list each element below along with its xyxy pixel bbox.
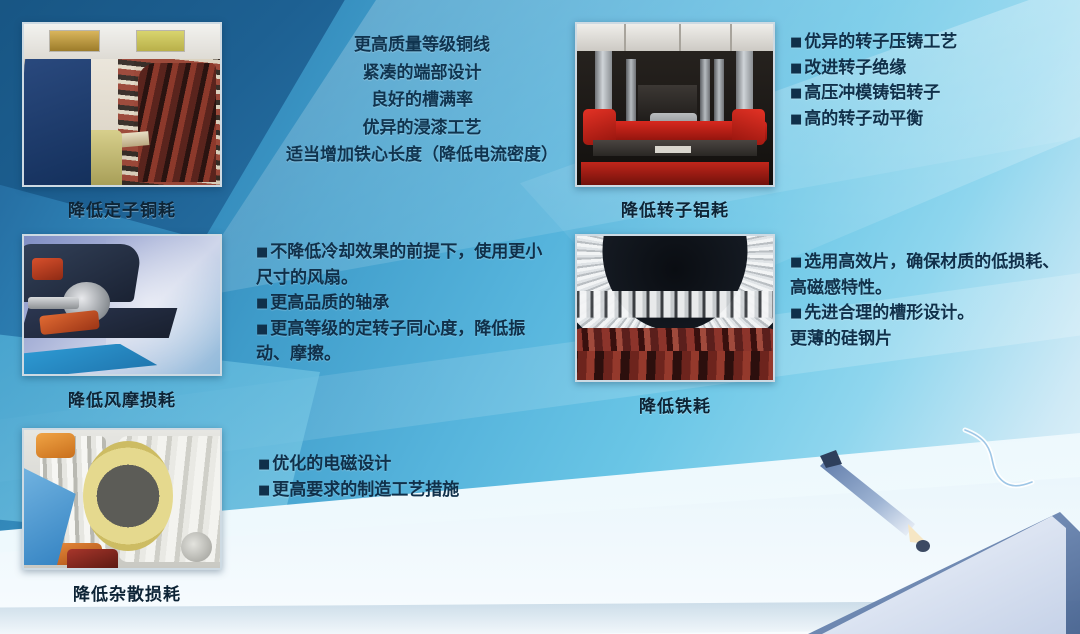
photo-layer-coils-front — [138, 63, 216, 182]
cooling-fan-assembly-photo — [22, 234, 222, 376]
photo-layer-red-base — [581, 162, 769, 185]
bullet-glyph: ■ — [256, 322, 268, 337]
bullet-glyph: ■ — [256, 296, 268, 311]
bullet-text: 不降低冷却效果的前提下，使用更小尺寸的风扇。 — [256, 242, 542, 288]
bullet-text: 优异的转子压铸工艺 — [804, 32, 957, 52]
bullet-item: ■先进合理的槽形设计。 — [790, 301, 1072, 327]
bullet-glyph: ■ — [258, 457, 270, 472]
photo-layer-red-part — [32, 258, 63, 280]
photo-ceiling-seam — [679, 24, 681, 51]
stator-copper-winding-photo — [22, 22, 222, 187]
bullet-item: ■更高等级的定转子同心度，降低振动、摩擦。 — [256, 317, 548, 368]
photo-ceiling-seam — [624, 24, 626, 51]
bullet-text: 优化的电磁设计 — [272, 454, 391, 474]
bullet-text: 高压冲模铸铝转子 — [804, 83, 940, 103]
bullet-text: 更高等级的定转子同心度，降低振动、摩擦。 — [256, 319, 525, 365]
caption-iron-loss: 降低铁耗 — [575, 392, 775, 417]
bullet-item: ■高压冲模铸铝转子 — [790, 81, 1068, 107]
bullet-item-plain: 更薄的硅钢片 — [790, 327, 1072, 353]
bullet-item: ■更高要求的制造工艺措施 — [258, 478, 558, 504]
text-iron-loss: ■选用高效片，确保材质的低损耗、高磁感特性。 ■先进合理的槽形设计。 更薄的硅钢… — [790, 250, 1072, 352]
photo-layer-rod-b — [700, 59, 710, 123]
text-line: 紧凑的端部设计 — [272, 60, 572, 88]
caption-windage-friction-loss: 降低风摩损耗 — [22, 386, 222, 411]
photo-layer-rod-c — [714, 59, 724, 123]
bullet-glyph: ■ — [790, 35, 802, 50]
photo-layer-shaft — [28, 297, 79, 309]
photo-layer-windings-front — [577, 351, 773, 380]
bullet-item: ■优化的电磁设计 — [258, 452, 558, 478]
text-stray-loss: ■优化的电磁设计 ■更高要求的制造工艺措施 — [258, 452, 558, 503]
bullet-item: ■改进转子绝缘 — [790, 56, 1068, 82]
caption-stray-loss: 降低杂散损耗 — [22, 580, 232, 605]
caption-rotor-aluminium-loss: 降低转子铝耗 — [575, 196, 775, 221]
bullet-text: 更高要求的制造工艺措施 — [272, 480, 459, 500]
bullet-text: 更薄的硅钢片 — [790, 329, 892, 349]
caption-stator-copper-loss: 降低定子铜耗 — [22, 196, 222, 221]
photo-layer-ceiling — [577, 24, 773, 51]
bullet-text: 先进合理的槽形设计。 — [804, 303, 974, 323]
photo-layer-white-block — [655, 146, 690, 152]
bullet-glyph: ■ — [790, 86, 802, 101]
photo-layer-top-strip — [24, 24, 220, 59]
bullet-glyph: ■ — [790, 255, 802, 270]
text-line: 更高质量等级铜线 — [272, 32, 572, 60]
photo-ceiling-seam — [730, 24, 732, 51]
assembled-motor-photo — [22, 428, 222, 570]
stator-lamination-core-photo — [575, 234, 775, 382]
photo-layer-winding-ring — [83, 441, 173, 551]
text-rotor-aluminium-loss: ■优异的转子压铸工艺 ■改进转子绝缘 ■高压冲模铸铝转子 ■高的转子动平衡 — [790, 30, 1068, 132]
bullet-item: ■选用高效片，确保材质的低损耗、高磁感特性。 — [790, 250, 1072, 301]
graphics-tablet-icon — [760, 420, 1080, 634]
rotor-die-casting-press-photo — [575, 22, 775, 187]
bullet-text: 选用高效片，确保材质的低损耗、高磁感特性。 — [790, 252, 1059, 298]
bullet-item: ■优异的转子压铸工艺 — [790, 30, 1068, 56]
bullet-glyph: ■ — [790, 112, 802, 127]
bullet-glyph: ■ — [258, 483, 270, 498]
bullet-text: 改进转子绝缘 — [804, 58, 906, 78]
bullet-item: ■不降低冷却效果的前提下，使用更小尺寸的风扇。 — [256, 240, 548, 291]
photo-layer-red-part — [67, 549, 118, 568]
photo-panel-left — [49, 30, 100, 52]
text-line: 良好的槽满率 — [272, 87, 572, 115]
bullet-item: ■高的转子动平衡 — [790, 107, 1068, 133]
text-line: 适当增加铁心长度（降低电流密度） — [272, 142, 572, 170]
photo-layer-rod-a — [626, 59, 636, 123]
bullet-item: ■更高品质的轴承 — [256, 291, 548, 317]
bullet-text: 高的转子动平衡 — [804, 109, 923, 129]
photo-layer-orange-part-1 — [36, 433, 75, 458]
bullet-glyph: ■ — [790, 306, 802, 321]
bullet-glyph: ■ — [790, 61, 802, 76]
text-windage-friction-loss: ■不降低冷却效果的前提下，使用更小尺寸的风扇。 ■更高品质的轴承 ■更高等级的定… — [256, 240, 548, 368]
bullet-glyph: ■ — [256, 245, 268, 260]
bullet-text: 更高品质的轴承 — [270, 293, 389, 313]
text-stator-copper-loss: 更高质量等级铜线 紧凑的端部设计 良好的槽满率 优异的浸漆工艺 适当增加铁心长度… — [272, 32, 572, 170]
photo-panel-right — [136, 30, 185, 52]
text-line: 优异的浸漆工艺 — [272, 115, 572, 143]
